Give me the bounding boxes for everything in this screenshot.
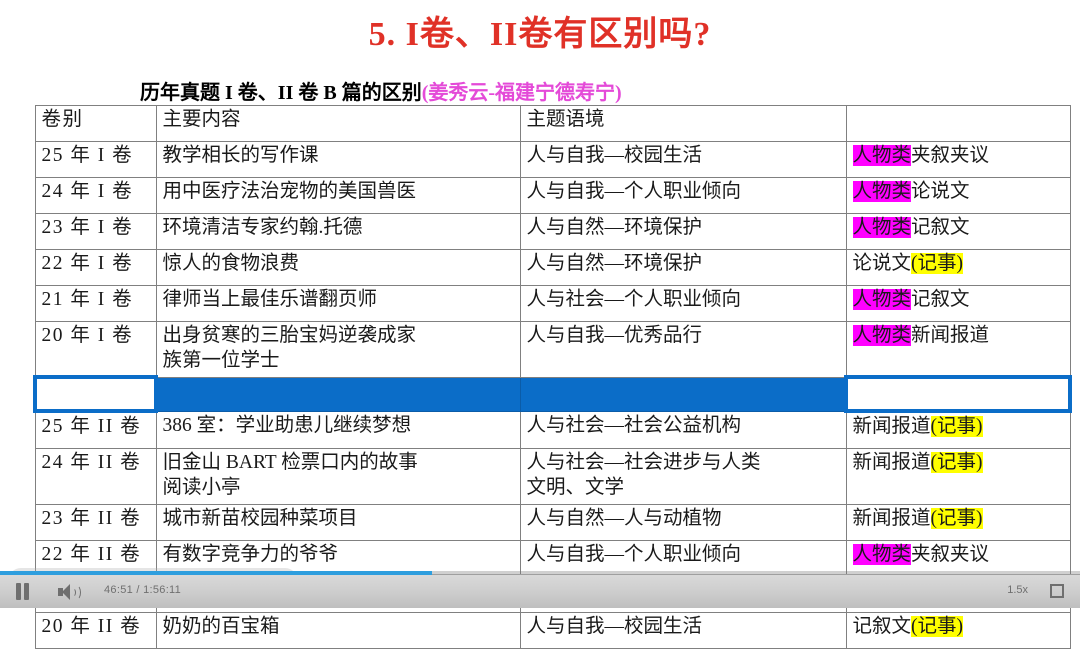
subtitle-main-text: 历年真题 I 卷、II 卷 B 篇的区别 [140,82,422,104]
cell-theme: 人与社会—社会进步与人类文明、文学 [520,449,846,505]
cell-paper: 25 年 I 卷 [35,142,156,178]
genre-note-highlight: (记事) [931,416,983,437]
pause-icon[interactable] [16,583,32,600]
cell-paper: 23 年 I 卷 [35,214,156,250]
genre-highlight: 人物类 [853,145,912,166]
cell-content: 惊人的食物浪费 [156,250,520,286]
genre-note-highlight: (记事) [911,253,963,274]
cell-genre: 论说文(记事) [846,250,1070,286]
cell-content: 出身贫寒的三胎宝妈逆袭成家族第一位学士 [156,322,520,378]
cell-theme: 人与社会—个人职业倾向 [520,286,846,322]
table-row: 25 年 II 卷386 室：学业助患儿继续梦想人与社会—社会公益机构新闻报道(… [35,411,1070,449]
table-row: 20 年 II 卷奶奶的百宝箱人与自我—校园生活记叙文(记事) [35,613,1070,649]
cell-theme: 人与自我—个人职业倾向 [520,178,846,214]
cell-content: 奶奶的百宝箱 [156,613,520,649]
cell-theme: 人与自我—优秀品行 [520,322,846,378]
cell-content: 城市新苗校园种菜项目 [156,505,520,541]
cell-content: 旧金山 BART 检票口内的故事阅读小亭 [156,449,520,505]
cell-content: 386 室：学业助患儿继续梦想 [156,411,520,449]
table-row: 24 年 I 卷用中医疗法治宠物的美国兽医人与自我—个人职业倾向人物类论说文 [35,178,1070,214]
genre-text: 新闻报道 [911,325,989,346]
table-row: 20 年 I 卷出身贫寒的三胎宝妈逆袭成家族第一位学士人与自我—优秀品行人物类新… [35,322,1070,378]
cell-content: 环境清洁专家约翰.托德 [156,214,520,250]
table-row: 22 年 I 卷惊人的食物浪费人与自然—环境保护论说文(记事) [35,250,1070,286]
volume-icon[interactable] [58,584,78,600]
cell-genre: 新闻报道(记事) [846,411,1070,449]
column-header-3: 主题语境 [520,106,846,142]
genre-text: 夹叙夹议 [911,145,989,166]
genre-highlight: 人物类 [853,217,912,238]
table-row: 21 年 I 卷律师当上最佳乐谱翻页师人与社会—个人职业倾向人物类记叙文 [35,286,1070,322]
separator-cell-1 [35,377,156,411]
cell-paper: 25 年 II 卷 [35,411,156,449]
time-display: 46:51 / 1:56:11 [104,584,181,596]
subtitle: 历年真题 I 卷、II 卷 B 篇的区别(姜秀云-福建宁德寿宁) [140,76,622,105]
genre-text: 记叙文 [911,289,970,310]
genre-note-highlight: (记事) [931,452,983,473]
cell-paper: 22 年 I 卷 [35,250,156,286]
cell-genre: 人物类新闻报道 [846,322,1070,378]
section-separator-row [35,377,1070,411]
cell-theme: 人与自我—校园生活 [520,613,846,649]
genre-text: 论说文 [853,253,912,274]
progress-bar[interactable] [0,571,1080,575]
table-body: 卷别主要内容主题语境25 年 I 卷教学相长的写作课人与自我—校园生活人物类夹叙… [35,106,1070,649]
page-title: 5. I卷、II卷有区别吗? [0,6,1080,55]
cell-paper: 23 年 II 卷 [35,505,156,541]
video-player-controls: 46:51 / 1:56:11 1.5x [0,574,1080,608]
genre-text: 夹叙夹议 [911,544,989,565]
playback-speed-button[interactable]: 1.5x [1007,584,1028,596]
genre-note-highlight: (记事) [911,616,963,637]
table-row: 25 年 I 卷教学相长的写作课人与自我—校园生活人物类夹叙夹议 [35,142,1070,178]
cell-genre: 人物类记叙文 [846,214,1070,250]
table-row: 24 年 II 卷旧金山 BART 检票口内的故事阅读小亭人与社会—社会进步与人… [35,449,1070,505]
cell-genre: 人物类记叙文 [846,286,1070,322]
cell-paper: 24 年 II 卷 [35,449,156,505]
separator-cell-4 [846,377,1070,411]
cell-paper: 24 年 I 卷 [35,178,156,214]
cell-theme: 人与自然—人与动植物 [520,505,846,541]
cell-genre: 人物类夹叙夹议 [846,142,1070,178]
genre-text: 记叙文 [853,616,912,637]
table-row: 23 年 I 卷环境清洁专家约翰.托德人与自然—环境保护人物类记叙文 [35,214,1070,250]
cell-content: 用中医疗法治宠物的美国兽医 [156,178,520,214]
genre-highlight: 人物类 [853,181,912,202]
genre-text: 新闻报道 [853,452,931,473]
genre-text: 新闻报道 [853,416,931,437]
genre-text: 记叙文 [911,217,970,238]
cell-content: 教学相长的写作课 [156,142,520,178]
cell-paper: 20 年 II 卷 [35,613,156,649]
cell-content: 律师当上最佳乐谱翻页师 [156,286,520,322]
separator-cell-2 [156,377,520,411]
comparison-table: 卷别主要内容主题语境25 年 I 卷教学相长的写作课人与自我—校园生活人物类夹叙… [33,105,1072,649]
progress-played [0,571,432,575]
subtitle-author-text: (姜秀云-福建宁德寿宁) [422,82,622,104]
cell-theme: 人与自然—环境保护 [520,250,846,286]
cell-genre: 记叙文(记事) [846,613,1070,649]
table-header-row: 卷别主要内容主题语境 [35,106,1070,142]
genre-highlight: 人物类 [853,325,912,346]
cell-genre: 新闻报道(记事) [846,449,1070,505]
genre-text: 新闻报道 [853,508,931,529]
cell-paper: 21 年 I 卷 [35,286,156,322]
column-header-2: 主要内容 [156,106,520,142]
column-header-4 [846,106,1070,142]
genre-highlight: 人物类 [853,544,912,565]
genre-note-highlight: (记事) [931,508,983,529]
separator-cell-3 [520,377,846,411]
genre-highlight: 人物类 [853,289,912,310]
cell-paper: 20 年 I 卷 [35,322,156,378]
cell-theme: 人与自我—校园生活 [520,142,846,178]
genre-text: 论说文 [911,181,970,202]
cell-theme: 人与自然—环境保护 [520,214,846,250]
cell-genre: 新闻报道(记事) [846,505,1070,541]
column-header-1: 卷别 [35,106,156,142]
table-row: 23 年 II 卷城市新苗校园种菜项目人与自然—人与动植物新闻报道(记事) [35,505,1070,541]
cell-genre: 人物类论说文 [846,178,1070,214]
cell-theme: 人与社会—社会公益机构 [520,411,846,449]
slide-canvas: 5. I卷、II卷有区别吗? 历年真题 I 卷、II 卷 B 篇的区别(姜秀云-… [0,0,1080,608]
fullscreen-icon[interactable] [1050,584,1064,598]
